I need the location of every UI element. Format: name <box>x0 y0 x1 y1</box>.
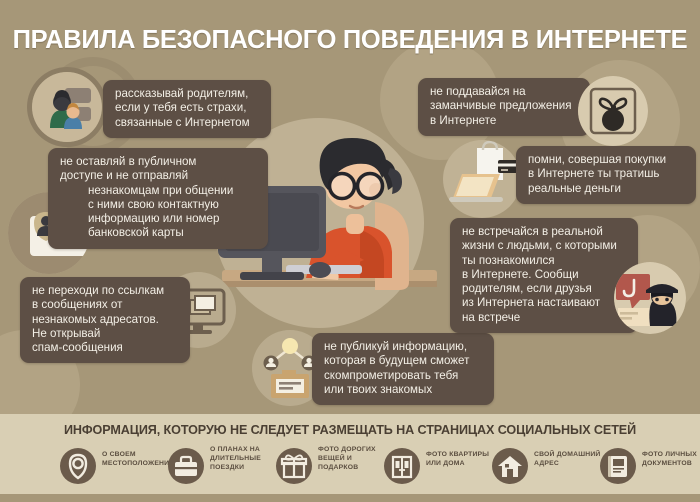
tip-icon-tell-parents <box>32 72 102 142</box>
tip-line: с ними свою контактную <box>60 198 256 212</box>
page-title: ПРАВИЛА БЕЗОПАСНОГО ПОВЕДЕНИЯ В ИНТЕРНЕТ… <box>0 26 700 55</box>
tip-line: не переходи по ссылкам <box>32 284 178 298</box>
tip-text-no-personal-data: не оставляй в публичном доступе и не отп… <box>48 148 268 249</box>
passport-icon <box>600 448 636 484</box>
band-item-label: ФОТО ЛИЧНЫХ ДОКУМЕНТОВ <box>642 450 697 468</box>
band-title: ИНФОРМАЦИЯ, КОТОРУЮ НЕ СЛЕДУЕТ РАЗМЕЩАТЬ… <box>0 423 700 437</box>
tip-line: в Интернете. Сообщи <box>462 268 626 282</box>
band-label-line: ФОТО ЛИЧНЫХ <box>642 450 697 459</box>
tip-line: связанные с Интернетом <box>115 116 259 130</box>
band-label-line: ПОЕЗДКИ <box>210 463 261 472</box>
tip-line: банковской карты <box>60 226 256 240</box>
tip-line: спам-сообщения <box>32 341 178 355</box>
band-item-label: ФОТО ДОРОГИХ ВЕЩЕЙ И ПОДАРКОВ <box>318 445 376 473</box>
tip-text-no-tempting-offers: не поддавайся на заманчивые предложения … <box>418 78 590 136</box>
band-item-label: О СВОЕМ МЕСТОПОЛОЖЕНИИ <box>102 450 174 468</box>
tip-line: в Интернете <box>430 114 578 128</box>
wardrobe-room-icon <box>384 448 420 484</box>
tip-line: рассказывай родителям, <box>115 87 259 101</box>
tip-icon-no-real-life-meetings <box>614 262 686 334</box>
tip-text-no-compromising-posts: не публикуй информацию, которая в будуще… <box>312 333 494 405</box>
tip-line: жизни с людьми, с которыми <box>462 239 626 253</box>
band-label-line: О СВОЕМ <box>102 450 174 459</box>
band-footer-strip <box>0 494 700 502</box>
tip-text-no-suspicious-links: не переходи по ссылкам в сообщениях от н… <box>20 277 190 363</box>
band-label-line: ФОТО ДОРОГИХ <box>318 445 376 454</box>
tip-line: которая в будущем сможет <box>324 354 482 368</box>
tip-line: заманчивые предложения <box>430 99 578 113</box>
map-pin-icon <box>60 448 96 484</box>
band-label-line: О ПЛАНАХ НА <box>210 445 261 454</box>
tip-text-real-money-shopping: помни, совершая покупки в Интернете ты т… <box>516 146 696 204</box>
tip-line: незнакомцам при общении <box>60 184 256 198</box>
tip-line: в Интернете ты тратишь <box>528 167 684 181</box>
infographic-canvas: ПРАВИЛА БЕЗОПАСНОГО ПОВЕДЕНИЯ В ИНТЕРНЕТ… <box>0 0 700 502</box>
band-item-label: СВОЙ ДОМАШНИЙ АДРЕС <box>534 450 601 468</box>
gift-icon <box>276 448 312 484</box>
tip-line: или твоих знакомых <box>324 383 482 397</box>
band-label-line: ИЛИ ДОМА <box>426 459 489 468</box>
house-icon <box>492 448 528 484</box>
band-label-line: ДЛИТЕЛЬНЫЕ <box>210 454 261 463</box>
bottom-band: ИНФОРМАЦИЯ, КОТОРУЮ НЕ СЛЕДУЕТ РАЗМЕЩАТЬ… <box>0 414 700 494</box>
band-label-line: СВОЙ ДОМАШНИЙ <box>534 450 601 459</box>
tip-line: не встречайся в реальной <box>462 225 626 239</box>
band-label-line: ВЕЩЕЙ И <box>318 454 376 463</box>
tip-line: на встрече <box>462 311 626 325</box>
band-item-label: О ПЛАНАХ НА ДЛИТЕЛЬНЫЕ ПОЕЗДКИ <box>210 445 261 473</box>
tip-line: родителям, если друзья <box>462 282 626 296</box>
band-label-line: МЕСТОПОЛОЖЕНИИ <box>102 459 174 468</box>
tip-line: незнакомых адресатов. <box>32 313 178 327</box>
tip-line: из Интернета настаивают <box>462 296 626 310</box>
band-label-line: АДРЕС <box>534 459 601 468</box>
tip-icon-no-tempting-offers <box>578 76 648 146</box>
gift-box-bomb-icon <box>578 76 648 146</box>
tip-line: Не открывай <box>32 327 178 341</box>
briefcase-icon <box>168 448 204 484</box>
band-item-label: ФОТО КВАРТИРЫ ИЛИ ДОМА <box>426 450 489 468</box>
band-label-line: ПОДАРКОВ <box>318 463 376 472</box>
band-label-line: ДОКУМЕНТОВ <box>642 459 697 468</box>
tip-line: реальные деньги <box>528 182 684 196</box>
tip-icon-real-money-shopping <box>443 140 521 218</box>
tip-line: если у тебя есть страхи, <box>115 101 259 115</box>
tip-line: не оставляй в публичном <box>60 155 256 169</box>
tip-line: не публикуй информацию, <box>324 340 482 354</box>
tip-line: ты познакомился <box>462 254 626 268</box>
band-label-line: ФОТО КВАРТИРЫ <box>426 450 489 459</box>
tip-text-no-real-life-meetings: не встречайся в реальной жизни с людьми,… <box>450 218 638 333</box>
tip-text-tell-parents: рассказывай родителям, если у тебя есть … <box>103 80 271 138</box>
tip-line: информацию или номер <box>60 212 256 226</box>
tip-line: в сообщениях от <box>32 298 178 312</box>
tip-line: не поддавайся на <box>430 85 578 99</box>
laptop-shopping-bag-card-icon <box>443 140 521 218</box>
parent-and-child-chat-icon <box>32 72 102 142</box>
tip-line: скомпрометировать тебя <box>324 369 482 383</box>
phishing-hook-thief-icon <box>614 262 686 334</box>
tip-line: помни, совершая покупки <box>528 153 684 167</box>
tip-line: доступе и не отправляй <box>60 169 256 183</box>
